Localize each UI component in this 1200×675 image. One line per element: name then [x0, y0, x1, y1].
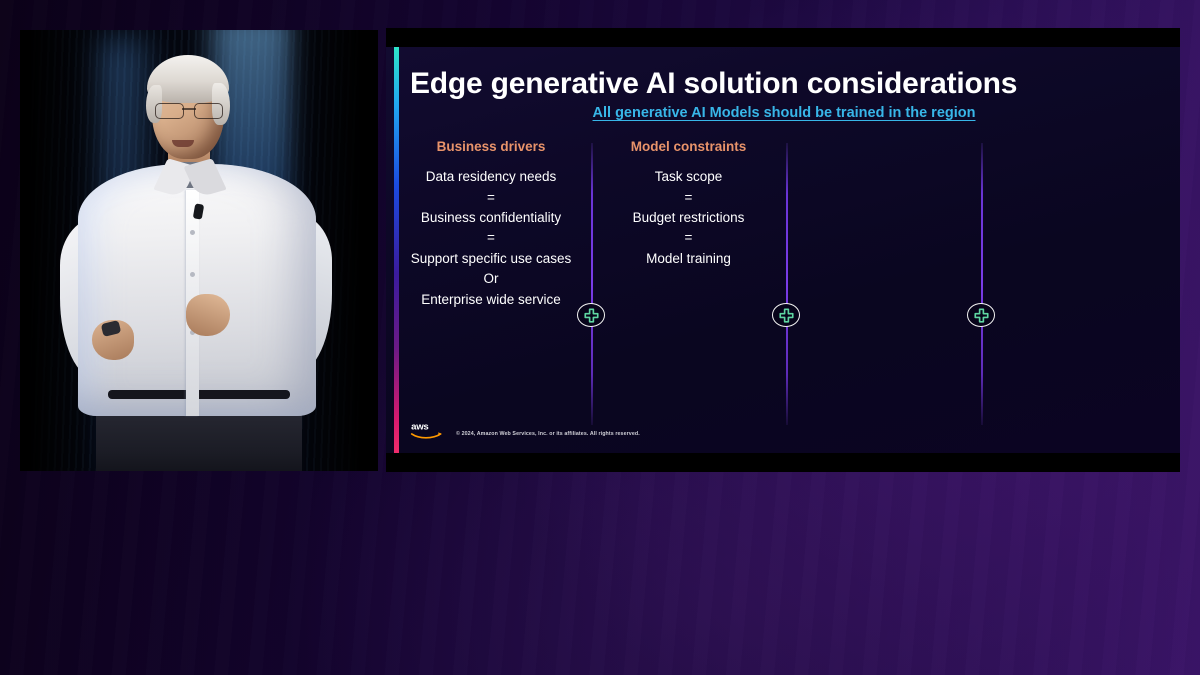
column-line: Task scope	[601, 168, 776, 187]
slide-title: Edge generative AI solution consideratio…	[410, 67, 1158, 101]
column-line: Data residency needs	[406, 168, 576, 187]
plus-connector-1-icon	[577, 303, 605, 327]
column-line: Model training	[601, 250, 776, 269]
plus-connector-2-icon	[772, 303, 800, 327]
column-heading: Business drivers	[406, 139, 576, 156]
column-line: Support specific use cases	[406, 250, 576, 269]
column-line: Enterprise wide service	[406, 291, 576, 310]
column-line: Or	[406, 270, 576, 289]
column-model-constraints: Model constraints Task scope = Budget re…	[601, 139, 776, 270]
presenter-figure	[20, 30, 378, 471]
column-line: Budget restrictions	[601, 209, 776, 228]
aws-logo-icon: aws	[410, 419, 444, 441]
column-equals: =	[601, 190, 776, 206]
column-equals: =	[406, 190, 576, 206]
copyright-text: © 2024, Amazon Web Services, Inc. or its…	[456, 431, 640, 437]
slide-content-area: Edge generative AI solution consideratio…	[386, 47, 1180, 453]
column-line: Business confidentiality	[406, 209, 576, 228]
column-divider-2	[786, 143, 788, 425]
plus-connector-3-icon	[967, 303, 995, 327]
column-equals: =	[406, 230, 576, 246]
column-equals: =	[601, 230, 776, 246]
speaker-video-panel[interactable]	[20, 30, 378, 471]
shirt-button	[190, 272, 195, 277]
column-divider-3	[981, 143, 983, 425]
column-heading: Model constraints	[601, 139, 776, 156]
presenter-right-hand	[186, 294, 230, 336]
svg-text:aws: aws	[411, 421, 428, 432]
presenter-belt	[108, 390, 290, 399]
shirt-button	[190, 230, 195, 235]
column-business-drivers: Business drivers Data residency needs = …	[406, 139, 576, 311]
column-divider-1	[591, 143, 593, 425]
presenter-glasses	[155, 103, 223, 118]
presenter-mouth	[172, 140, 194, 147]
slide-subtitle: All generative AI Models should be train…	[410, 105, 1158, 121]
slide-columns: Business drivers Data residency needs = …	[386, 139, 1180, 425]
presentation-slide[interactable]: Edge generative AI solution consideratio…	[386, 28, 1180, 472]
